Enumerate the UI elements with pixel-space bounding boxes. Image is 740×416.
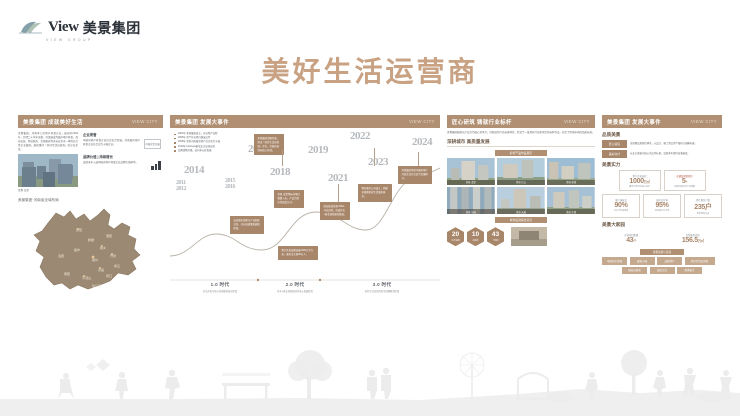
panel4-header-brand: VIEW CITY — [691, 119, 717, 124]
bottom-illustration-band — [0, 321, 740, 416]
panel4-stats: 客户满意度 90% 业主综合满意度 按时交付率 95% 项目履约交付率 累计服务… — [602, 194, 722, 218]
panel4-kv-value: 全周期品质管控体系，从设计、施工到交付严格执行国家标准。 — [630, 140, 722, 148]
stat-sub: 项目履约交付率 — [645, 209, 679, 212]
panel1-intro: 美景集团，河南本土房地产开发企业，始创于2002年，历经二十余年深耕，已发展成为… — [18, 132, 78, 151]
timeline-stem — [374, 148, 375, 166]
stat-card: 在管服务面积 156.5万㎡ — [664, 230, 723, 246]
svg-text:洛阳: 洛阳 — [58, 253, 64, 258]
panel3-header-title: 匠心研筑 铸就行业标杆 — [452, 118, 512, 126]
stat-card: 在管项目数量 43个 — [602, 230, 661, 246]
era-title: 3.0 时代 — [332, 282, 432, 288]
panel1-header-title: 美景集团 成就美好生活 — [23, 118, 83, 126]
silhouette-svg — [0, 321, 740, 416]
panel4-top-stats: 累计开发面积 1000万㎡ 覆盖河南全域核心城市 在建及规划项目 5+ 持续拓展… — [602, 170, 722, 191]
panel4-kv-row: 匠心营造 全周期品质管控体系，从设计、施工到交付严格执行国家标准。 — [602, 140, 722, 148]
page-root: View 美景集团 VIEW GROUP 美好生活运营商 美景集团 成就美好生活… — [0, 0, 740, 416]
timeline-stem — [418, 152, 419, 166]
project-photo-cell[interactable]: 美景·东望 — [547, 187, 595, 214]
svg-text:驻马店: 驻马店 — [92, 283, 101, 288]
timeline-card[interactable]: 启动城市更新与产业园区业务，开启高质量发展新阶段。 — [230, 216, 264, 234]
panel4-tag-header: 荣誉资质与奖项 — [640, 249, 684, 255]
hex-stat[interactable]: 43 个项目 — [487, 227, 504, 246]
stat-sub: 覆盖河南全域核心城市 — [621, 185, 659, 188]
timeline-bullets: 2002年 美景集团成立，开启地产征程 2005年 首个住宅项目落成交付 200… — [174, 132, 246, 153]
hex-stat-label: 余年深耕 — [451, 239, 459, 242]
tag-button[interactable]: 美好生活运营商 — [685, 257, 715, 265]
project-photo-cell[interactable]: 美景·龙堂 — [447, 158, 495, 185]
stat-unit: + — [686, 180, 688, 184]
bar-chart-icon — [151, 161, 161, 170]
timeline-year-2019: 2019 — [308, 144, 328, 156]
panel4-section3-title: 美景大家园 — [602, 222, 722, 228]
tag-button[interactable]: 优秀雇主 — [677, 267, 702, 275]
stat-card: 累计服务户数 235户 服务家庭总量 — [684, 194, 722, 218]
stat-value: 90% — [604, 202, 638, 209]
stat-value: 235户 — [686, 202, 720, 212]
project-photo-caption: 美景·沁园 — [447, 209, 495, 214]
stat-value: 1000 — [629, 178, 643, 185]
logo-cn: 美景集团 — [83, 21, 141, 35]
timeline-card[interactable]: 美景集团荣获中国房地产开发企业综合实力百强称号。 — [398, 166, 432, 184]
panel4-mid-stats: 在管项目数量 43个 在管服务面积 156.5万㎡ — [602, 230, 722, 246]
panel1-block2-title: 品牌价值 | 持续增长 — [83, 154, 161, 159]
era-sub: 住宅开发为核心的规模化成长阶段 — [180, 289, 260, 293]
project-photo-cell[interactable]: 美景·天城 — [497, 187, 545, 214]
stat-card: 累计开发面积 1000万㎡ 覆盖河南全域核心城市 — [619, 170, 661, 191]
panel4-header-title: 美景集团 发展大事件 — [607, 118, 661, 126]
panel4-section2-title: 美景实力 — [602, 162, 722, 168]
panel-products: 匠心研筑 铸就行业标杆 VIEW CITY 匠心研筑 铸就行业标杆 美景集团始终… — [447, 115, 595, 246]
era-3: 3.0 时代 美好生活运营商的全周期服务阶段 — [332, 282, 432, 293]
svg-text:商丘: 商丘 — [114, 263, 120, 268]
company-logo[interactable]: View 美景集团 VIEW GROUP — [18, 20, 141, 42]
panel1-photo-caption: 美景·龙堂 — [18, 189, 78, 193]
panel4-kv-key: 匠心营造 — [602, 140, 627, 148]
logo-word: View — [48, 20, 79, 35]
era-title: 2.0 时代 — [260, 282, 330, 288]
timeline-card[interactable]: 累计开发面积突破1000万平方米，服务业主超20万人。 — [278, 246, 318, 260]
stat-sub: 持续拓展优质土地储备 — [666, 185, 704, 188]
tag-button[interactable]: 省级十强 — [630, 257, 655, 265]
timeline-year-2023: 2023 — [368, 156, 388, 168]
svg-text:开封: 开封 — [110, 253, 116, 258]
timeline-curve — [170, 138, 440, 288]
timeline-year-2014: 2014 — [184, 164, 204, 176]
photo-grid-tag: 标杆产品作品展示 — [495, 150, 547, 156]
timeline-card[interactable]: 物业服务公司成立，构建全周期美好生活服务体系。 — [358, 184, 392, 202]
timeline-year-2021: 2021 — [328, 172, 348, 184]
era-axis: 1.0 时代 住宅开发为核心的规模化成长阶段 2.0 时代 住宅+商业双轮驱动的… — [170, 277, 440, 295]
page-title: 美好生活运营商 — [0, 50, 740, 90]
panel1-block1-badge: 中国房企百强 — [144, 139, 161, 149]
hex-stat[interactable]: 10 大城市 — [467, 227, 484, 246]
panel3-section2-title: 深耕城市 高质量发展 — [447, 139, 595, 145]
stat-value: 95% — [645, 202, 679, 209]
svg-text:鹤壁: 鹤壁 — [88, 237, 94, 242]
panel4-tags-row2: 城市运营商 诚信企业 优秀雇主 — [602, 267, 722, 275]
stat-value: 156.5 — [682, 237, 698, 244]
timeline-card[interactable]: 商业板块美景·MALL开业运营，形成住宅+商业双轮驱动格局。 — [320, 202, 350, 220]
map-title: 美景集团·河南省全域布局 — [18, 198, 163, 203]
project-photo-grid: 美景·龙堂 美景·江山 — [447, 158, 595, 215]
province-map[interactable]: 美景集团·河南省全域布局 安阳 鹤壁 濮阳 新乡 焦作 开封 郑州 洛阳 — [18, 198, 163, 296]
panel1-header: 美景集团 成就美好生活 VIEW CITY — [18, 115, 163, 128]
panel3-bottom-tag: 城市运营综合实力 — [495, 217, 547, 223]
era-1: 1.0 时代 住宅开发为核心的规模化成长阶段 — [180, 282, 260, 293]
panel2-header: 美景集团 发展大事件 VIEW CITY — [170, 115, 440, 128]
panel4-header: 美景集团 发展大事件 VIEW CITY — [602, 115, 722, 128]
panel4-tags: 中国房企百强 省级十强 品质地产 美好生活运营商 — [602, 257, 722, 265]
panel3-header: 匠心研筑 铸就行业标杆 VIEW CITY — [447, 115, 595, 128]
logo-subtitle: VIEW GROUP — [46, 38, 93, 42]
hex-stat[interactable]: 20 余年深耕 — [447, 227, 464, 246]
stat-unit: 万㎡ — [644, 180, 650, 184]
era-2: 2.0 时代 住宅+商业双轮驱动的多元发展阶段 — [260, 282, 330, 293]
project-photo-cell[interactable]: 美景·美境 — [547, 158, 595, 185]
project-photo-caption: 美景·美境 — [547, 180, 595, 185]
svg-text:周口: 周口 — [106, 273, 112, 278]
timeline-stem — [338, 184, 339, 202]
tag-button[interactable]: 城市运营商 — [622, 267, 647, 275]
panel1-project-photo — [18, 154, 78, 187]
svg-text:濮阳: 濮阳 — [106, 233, 112, 238]
stat-unit: 万㎡ — [698, 239, 704, 243]
timeline-stem — [282, 150, 283, 166]
era-sub: 住宅+商业双轮驱动的多元发展阶段 — [260, 289, 330, 293]
hex-stat-number: 20 — [452, 232, 459, 239]
panel4-kv-row: 美好交付 以业主满意为核心的交付标准，连续多年保持高满意度。 — [602, 150, 722, 158]
hex-stats-row: 20 余年深耕 10 大城市 43 个项目 — [447, 227, 595, 246]
project-photo-cell[interactable]: 美景·沁园 — [447, 187, 495, 214]
svg-text:焦作: 焦作 — [74, 247, 80, 252]
panel1-block1-title: 企业荣誉 — [83, 132, 161, 137]
svg-text:安阳: 安阳 — [76, 227, 82, 232]
hex-stat-number: 43 — [492, 232, 499, 239]
panel-strength: 美景集团 发展大事件 VIEW CITY 品质美景 匠心营造 全周期品质管控体系… — [602, 115, 722, 274]
panel-brand-overview: 美景集团 成就美好生活 VIEW CITY 美景集团，河南本土房地产开发企业，始… — [18, 115, 163, 296]
timeline-year-2011-2012: 2011 2012 — [176, 180, 186, 193]
panel1-header-brand: VIEW CITY — [132, 119, 158, 124]
tag-button[interactable]: 中国房企百强 — [602, 257, 627, 265]
hex-stat-label: 个项目 — [492, 239, 498, 242]
timeline-area: 2002年 美景集团成立，开启地产征程 2005年 首个住宅项目落成交付 200… — [170, 128, 440, 303]
project-photo-cell[interactable]: 美景·江山 — [497, 158, 545, 185]
province-map-svg: 安阳 鹤壁 濮阳 新乡 焦作 开封 郑州 洛阳 商丘 许昌 周口 平顶山 — [18, 205, 163, 297]
project-photo-caption: 美景·江山 — [497, 180, 545, 185]
svg-text:南阳: 南阳 — [64, 271, 70, 276]
project-photo-caption: 美景·龙堂 — [447, 180, 495, 185]
era-sub: 美好生活运营商的全周期服务阶段 — [332, 289, 432, 293]
stat-sub: 业主综合满意度 — [604, 209, 638, 212]
svg-text:许昌: 许昌 — [98, 267, 104, 272]
svg-text:新乡: 新乡 — [100, 245, 106, 250]
stat-card: 客户满意度 90% 业主综合满意度 — [602, 194, 640, 218]
stat-card: 在建及规划项目 5+ 持续拓展优质土地储备 — [664, 170, 706, 191]
tag-button[interactable]: 品质地产 — [657, 257, 682, 265]
project-photo-caption: 美景·天城 — [497, 209, 545, 214]
tag-button[interactable]: 诚信企业 — [650, 267, 675, 275]
hex-stat-number: 10 — [472, 232, 479, 239]
panel4-kv-value: 以业主满意为核心的交付标准，连续多年保持高满意度。 — [630, 150, 722, 158]
stat-unit: 个 — [633, 239, 636, 243]
stat-card: 按时交付率 95% 项目履约交付率 — [643, 194, 681, 218]
panel3-header-brand: VIEW CITY — [564, 119, 590, 124]
stat-sub: 服务家庭总量 — [686, 212, 720, 215]
hex-stat-label: 大城市 — [472, 239, 478, 242]
timeline-year-2022: 2022 — [350, 130, 370, 142]
panel1-block1-text: 中国房地产开发企业综合实力百强，河南省房地产开发企业综合实力十强企业。 — [83, 139, 140, 147]
timeline-year-2024: 2024 — [412, 136, 432, 148]
leaf-mark-icon — [18, 20, 44, 34]
timeline-year-2015-2016: 2015 2016 — [225, 178, 235, 191]
panel4-section1-title: 品质美景 — [602, 132, 722, 138]
timeline-year-2018: 2018 — [270, 166, 290, 178]
panel2-header-brand: VIEW CITY — [409, 119, 435, 124]
panel4-kv-key: 美好交付 — [602, 150, 627, 158]
timeline-bullet: 品牌战略升级，迈向多元化发展 — [174, 149, 246, 153]
panel2-header-title: 美景集团 发展大事件 — [175, 118, 229, 126]
project-photo-caption: 美景·东望 — [547, 209, 595, 214]
era-title: 1.0 时代 — [180, 282, 260, 288]
panels-row: 美景集团 成就美好生活 VIEW CITY 美景集团，河南本土房地产开发企业，始… — [0, 115, 740, 305]
panel-timeline: 美景集团 发展大事件 VIEW CITY 2002年 美景集团成立，开启地产征程… — [170, 115, 440, 303]
panel3-desc: 美景集团始终以产品力为核心竞争力，持续迭代产品标准体系，打造了一批具有行业影响力… — [447, 131, 595, 135]
timeline-card[interactable]: 美景·龙堂等标杆项目相继入市，产品力获市场高度认可。 — [274, 190, 304, 208]
timeline-card[interactable]: 美景集团战略升级，提出「美好生活运营商」定位，全面布局郑州核心区域。 — [254, 134, 284, 155]
panel3-extra-photo — [511, 227, 547, 246]
panel1-block2-text: 连续多年入选中国房地产开发企业品牌价值榜单。 — [83, 161, 147, 165]
